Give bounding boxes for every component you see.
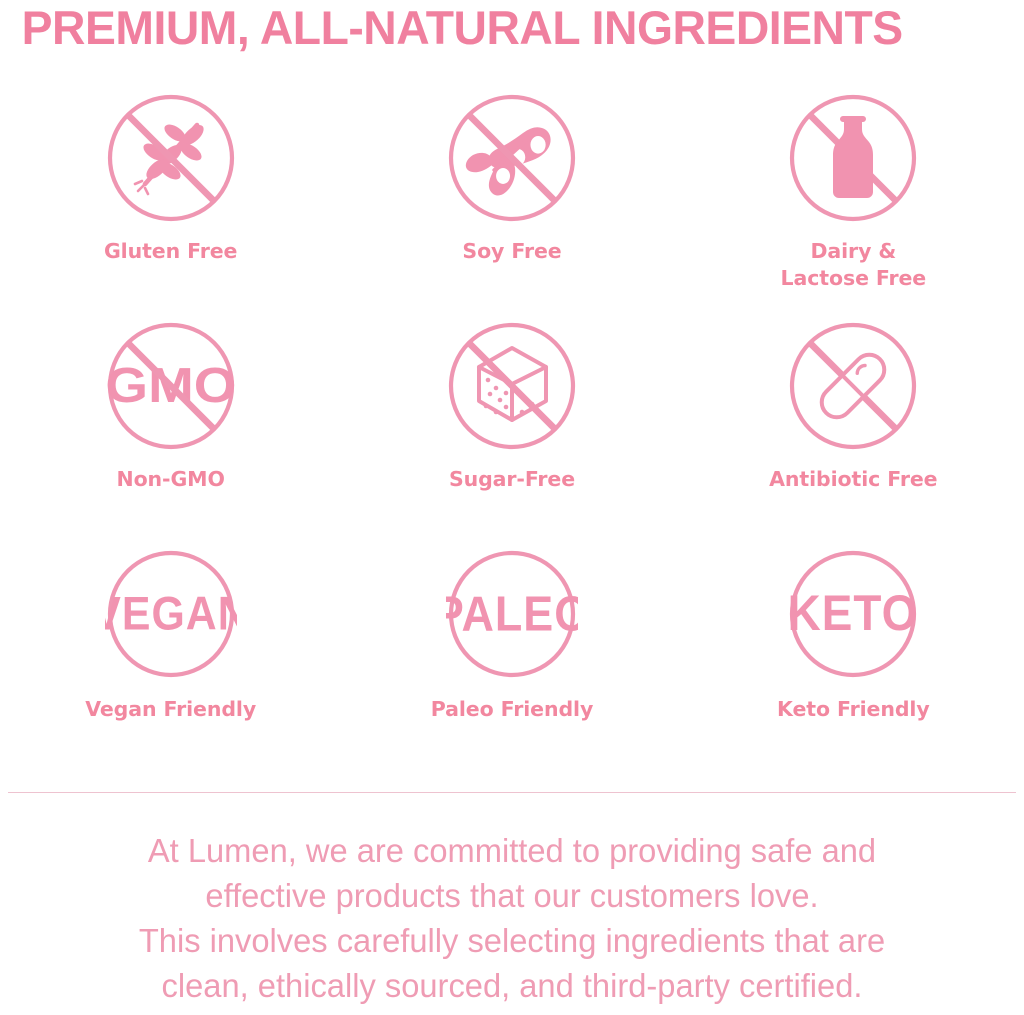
badge-label: Non-GMO [117,466,225,493]
badge-label: Keto Friendly [777,696,930,723]
svg-text:VEGAN: VEGAN [105,586,237,639]
badge-label: Gluten Free [104,238,237,265]
milk-bottle-icon [787,92,919,224]
svg-text:PALEO: PALEO [446,585,578,640]
badge-keto: KETO Keto Friendly [683,548,1024,776]
badge-label: Antibiotic Free [769,466,937,493]
page-title: PREMIUM, ALL-NATURAL INGREDIENTS [0,0,1009,56]
badge-dairy-free: Dairy & Lactose Free [683,92,1024,320]
brand-commitment-paragraph: At Lumen, we are committed to providing … [5,828,1019,1008]
paleo-text-icon: PALEO [446,548,578,680]
badge-soy-free: Soy Free [341,92,682,320]
badge-label: Dairy & Lactose Free [781,238,927,292]
badge-grid: Gluten Free Soy Free [0,92,1024,776]
keto-text-icon: KETO [787,548,919,680]
badge-vegan: VEGAN Vegan Friendly [0,548,341,776]
badge-label: Sugar-Free [449,466,575,493]
gmo-text-icon: GMO [105,320,237,452]
badge-sugar-free: Sugar-Free [341,320,682,548]
vegan-text-icon: VEGAN [105,548,237,680]
badge-antibiotic-free: Antibiotic Free [683,320,1024,548]
badge-gluten-free: Gluten Free [0,92,341,320]
pill-capsule-icon [787,320,919,452]
sugar-cube-icon [446,320,578,452]
badge-label: Soy Free [462,238,561,265]
badge-label: Vegan Friendly [85,696,256,723]
badge-non-gmo: GMO Non-GMO [0,320,341,548]
svg-text:KETO: KETO [788,585,919,641]
badge-paleo: PALEO Paleo Friendly [341,548,682,776]
ingredients-infographic: PREMIUM, ALL-NATURAL INGREDIENTS [0,0,1024,1015]
wheat-icon [105,92,237,224]
badge-label: Paleo Friendly [431,696,593,723]
soybean-icon [446,92,578,224]
section-divider [8,792,1016,793]
